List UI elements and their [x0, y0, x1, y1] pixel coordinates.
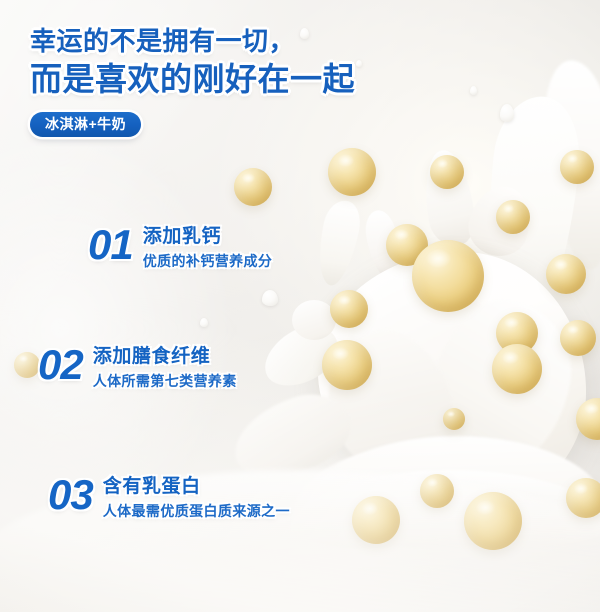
product-poster: 幸运的不是拥有一切， 而是喜欢的刚好在一起 冰淇淋+牛奶 01 添加乳钙 优质的… — [0, 0, 600, 612]
feature-number-01: 01 — [88, 222, 133, 268]
headline-line-1: 幸运的不是拥有一切， — [30, 24, 355, 58]
feature-number-02: 02 — [38, 342, 83, 388]
feature-number-03: 03 — [48, 472, 93, 518]
headline-line-2: 而是喜欢的刚好在一起 — [30, 59, 355, 99]
feature-subtitle-01: 优质的补钙营养成分 — [143, 251, 273, 271]
feature-subtitle-02: 人体所需第七类营养素 — [93, 371, 237, 391]
feature-item-02: 02 添加膳食纤维 人体所需第七类营养素 — [38, 342, 237, 391]
flavor-tag-badge: 冰淇淋+牛奶 — [30, 112, 141, 137]
feature-title-01: 添加乳钙 — [143, 225, 273, 249]
feature-subtitle-03: 人体最需优质蛋白质来源之一 — [103, 501, 290, 521]
headline-block: 幸运的不是拥有一切， 而是喜欢的刚好在一起 冰淇淋+牛奶 — [30, 24, 355, 137]
feature-title-03: 含有乳蛋白 — [103, 475, 290, 499]
feature-item-03: 03 含有乳蛋白 人体最需优质蛋白质来源之一 — [48, 472, 290, 521]
feature-item-01: 01 添加乳钙 优质的补钙营养成分 — [88, 222, 272, 271]
feature-text-03: 含有乳蛋白 人体最需优质蛋白质来源之一 — [103, 472, 290, 521]
feature-title-02: 添加膳食纤维 — [93, 345, 237, 369]
feature-text-01: 添加乳钙 优质的补钙营养成分 — [143, 222, 273, 271]
feature-text-02: 添加膳食纤维 人体所需第七类营养素 — [93, 342, 237, 391]
